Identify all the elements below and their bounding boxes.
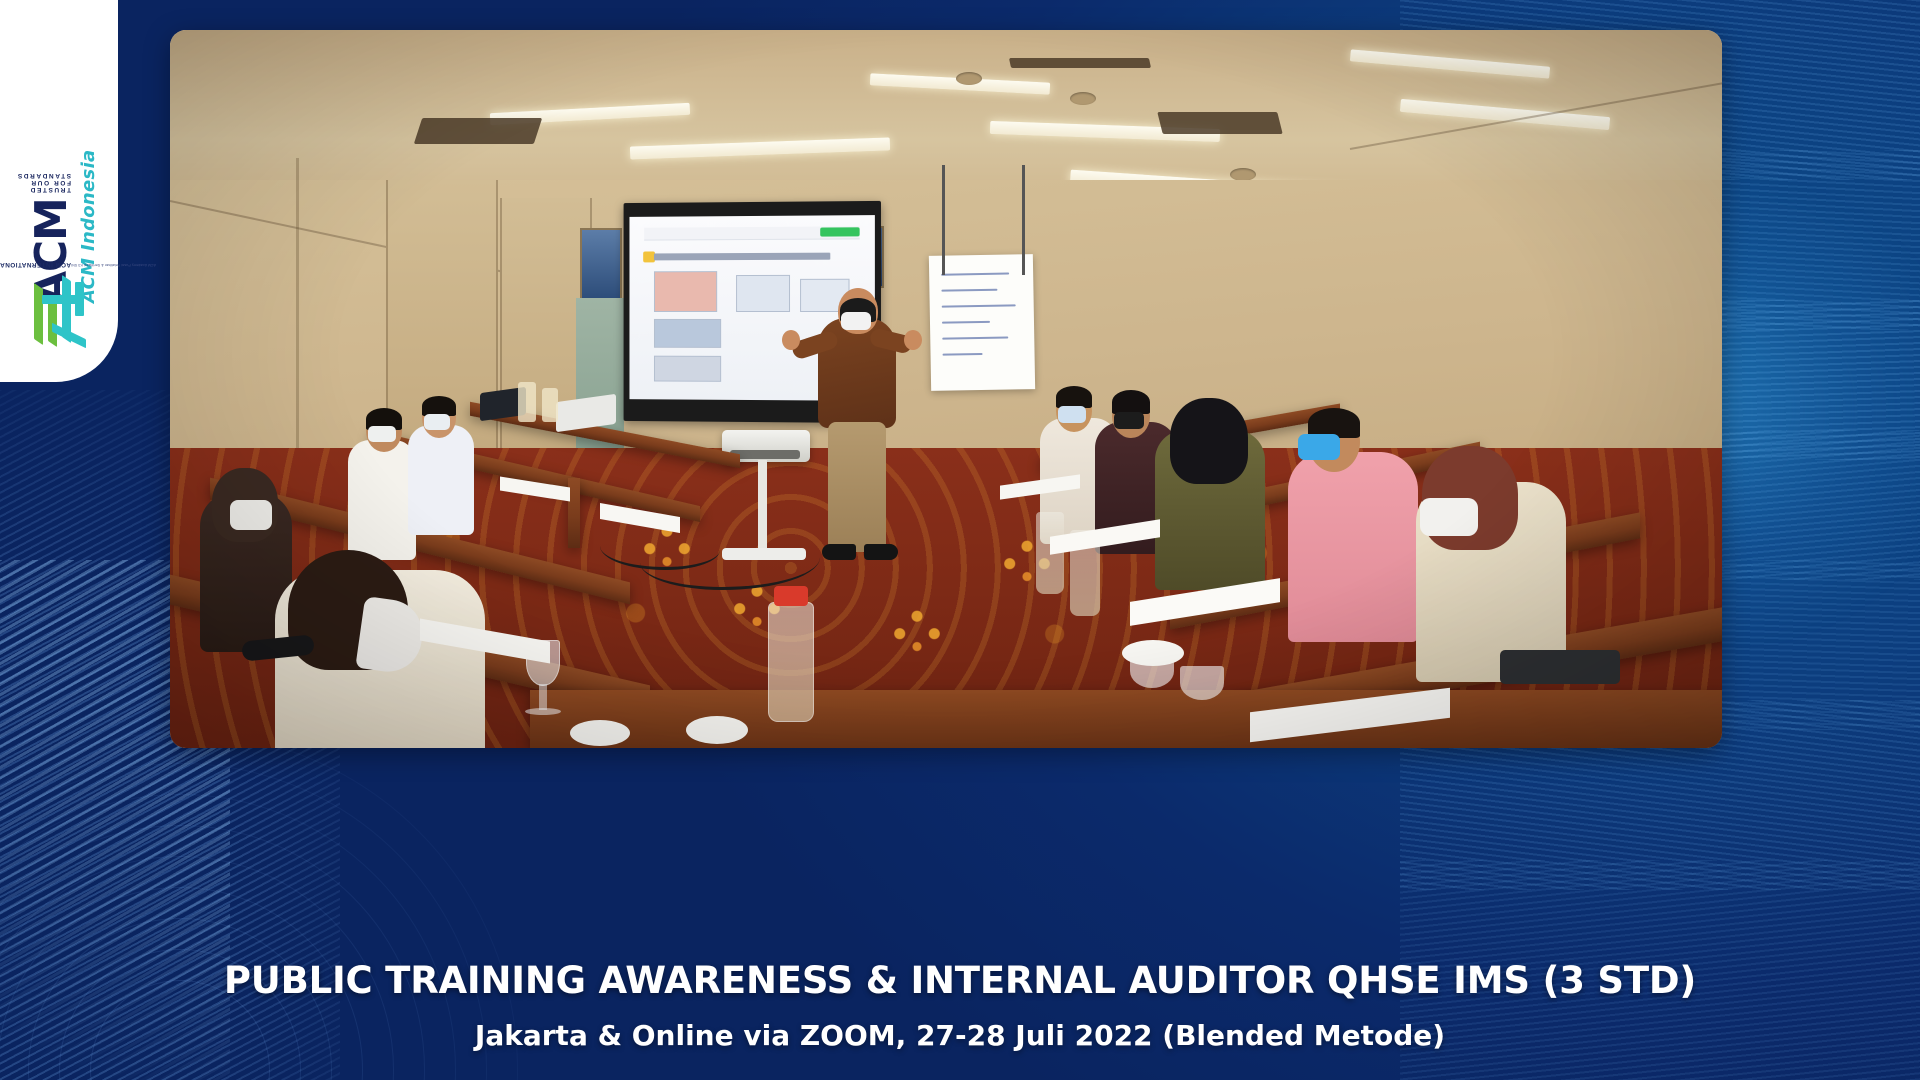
banner-canvas: ACM TRUSTED FOR OUR STANDARDS ACM Indone… [0, 0, 1920, 1080]
acm-academy-lockup: ACM INTERNATIONAL ACADEMY ACM Academy Pu… [14, 216, 100, 346]
caption-block: PUBLIC TRAINING AWARENESS & INTERNAL AUD… [0, 760, 1920, 1055]
photo-vignette [170, 30, 1722, 748]
training-room-photo [170, 30, 1722, 748]
photo-scene [170, 30, 1722, 748]
event-subtitle: Jakarta & Online via ZOOM, 27-28 Juli 20… [0, 1016, 1920, 1055]
acm-tagline: TRUSTED FOR OUR STANDARDS [19, 172, 71, 193]
event-title: PUBLIC TRAINING AWARENESS & INTERNAL AUD… [0, 958, 1920, 1004]
logo-rotation-wrapper: ACM TRUSTED FOR OUR STANDARDS ACM Indone… [0, 0, 118, 382]
academy-name: ACM INTERNATIONAL ACADEMY [0, 261, 71, 268]
academy-triangle-icon [26, 272, 88, 346]
academy-text-block: ACM INTERNATIONAL ACADEMY ACM Academy Pu… [0, 261, 156, 268]
acm-logo-panel: ACM TRUSTED FOR OUR STANDARDS ACM Indone… [0, 0, 118, 382]
academy-subtitle: ACM Academy Pusat Pelatihan & Sertifikas… [71, 261, 156, 267]
